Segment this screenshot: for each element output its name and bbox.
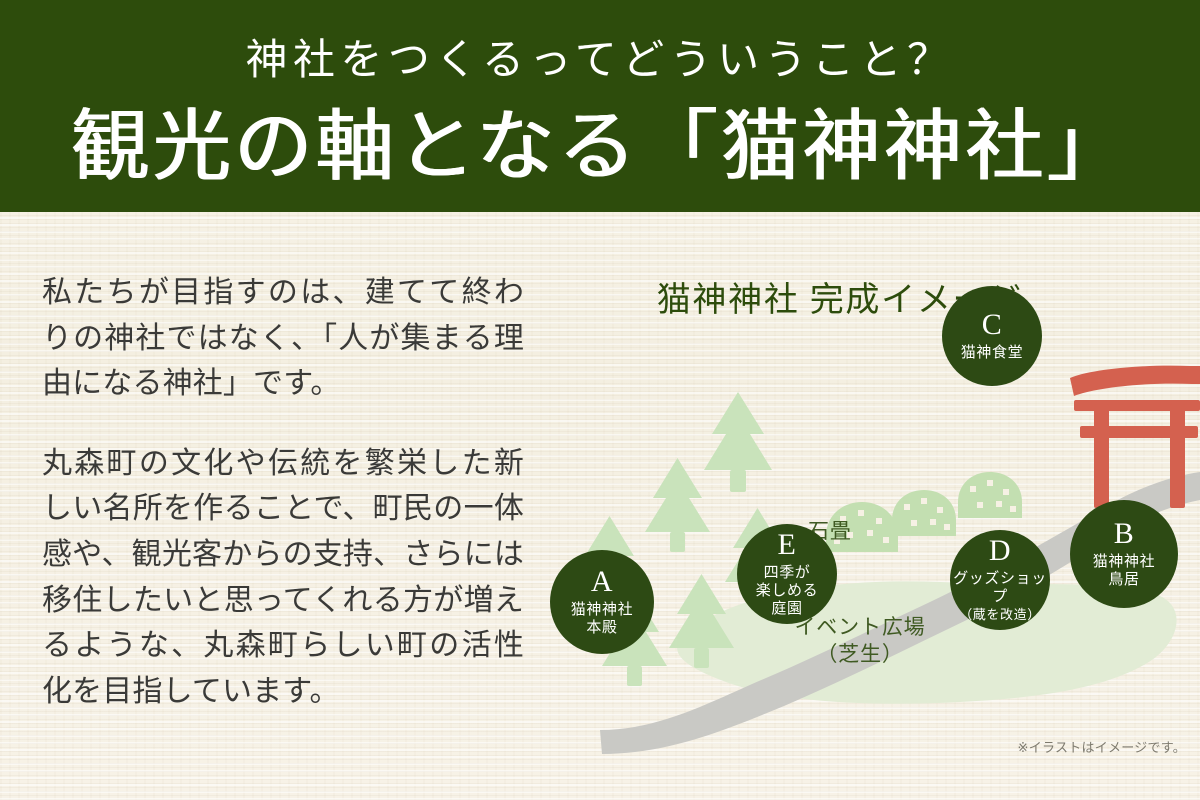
left-text-column: 私たちが目指すのは、建てて終わりの神社ではなく、「人が集まる理由になる神社」です…	[42, 270, 524, 714]
marker-e-caption: 四季が 楽しめる 庭園	[756, 564, 818, 619]
tree-icon	[645, 458, 710, 552]
torii-gate-icon	[1070, 366, 1200, 508]
marker-d-goods-shop[interactable]: D グッズショップ （蔵を改造）	[950, 530, 1050, 630]
marker-b-caption: 猫神神社 鳥居	[1093, 553, 1155, 590]
marker-a-caption: 猫神神社 本殿	[571, 601, 633, 638]
map-title: 猫神神社 完成イメージ	[540, 272, 1140, 321]
shrub-icon	[892, 490, 956, 536]
tree-icon	[704, 392, 772, 492]
map-panel: 猫神神社 完成イメージ	[540, 262, 1200, 762]
marker-d-caption: グッズショップ （蔵を改造）	[950, 570, 1050, 625]
marker-b-letter: B	[1114, 519, 1135, 549]
poster-canvas: 神社をつくるってどういうこと？ 観光の軸となる「猫神神社」 私たちが目指すのは、…	[0, 0, 1200, 800]
body-paragraph-2: 丸森町の文化や伝統を繁栄した新しい名所を作ることで、町民の一体感や、観光客からの…	[42, 441, 524, 715]
marker-b-torii[interactable]: B 猫神神社 鳥居	[1070, 500, 1178, 608]
event-plaza-label-line2: （芝生）	[816, 642, 903, 666]
event-plaza-label-line1: イベント広場	[794, 615, 925, 639]
header-band: 神社をつくるってどういうこと？ 観光の軸となる「猫神神社」	[0, 0, 1200, 212]
header-title: 観光の軸となる「猫神神社」	[0, 84, 1200, 196]
marker-a-main-shrine[interactable]: A 猫神神社 本殿	[550, 550, 654, 654]
marker-c-restaurant[interactable]: C 猫神食堂	[942, 286, 1042, 386]
marker-e-garden[interactable]: E 四季が 楽しめる 庭園	[737, 524, 837, 624]
marker-e-letter: E	[778, 530, 797, 560]
body-paragraph-1: 私たちが目指すのは、建てて終わりの神社ではなく、「人が集まる理由になる神社」です…	[42, 270, 524, 407]
marker-a-letter: A	[591, 567, 613, 597]
shrub-icon	[958, 472, 1022, 518]
marker-c-caption: 猫神食堂	[961, 344, 1023, 362]
marker-d-letter: D	[989, 536, 1011, 566]
marker-c-letter: C	[982, 310, 1003, 340]
illustration-disclaimer: ※イラストはイメージです。	[1018, 737, 1186, 756]
header-kicker: 神社をつくるってどういうこと？	[0, 26, 1200, 87]
